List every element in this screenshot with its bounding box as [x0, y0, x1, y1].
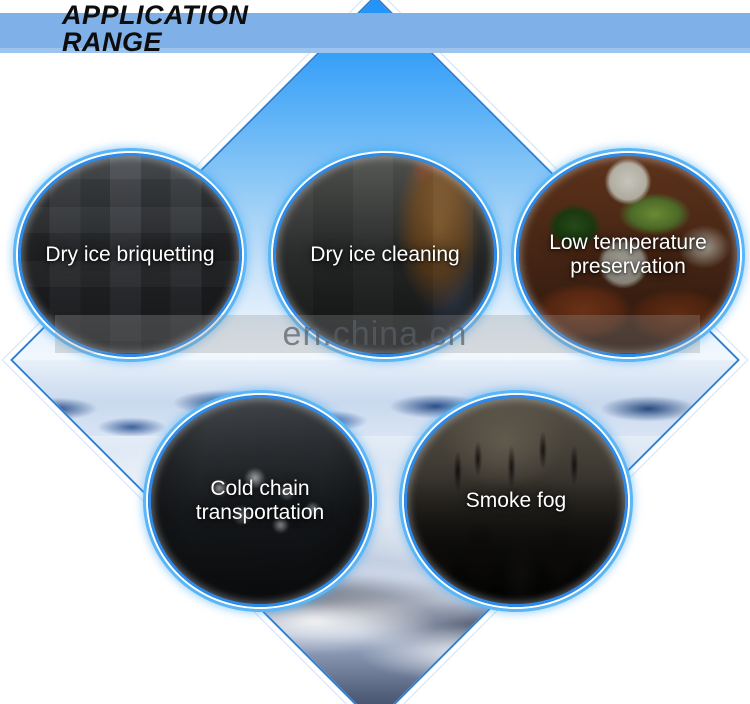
circle-smoke-fog[interactable]: Smoke fog [404, 395, 628, 607]
circle-label-dry-ice-cleaning: Dry ice cleaning [304, 243, 465, 267]
circle-label-dry-ice-briquetting: Dry ice briquetting [39, 243, 220, 267]
application-range-banner: APPLICATION RANGE Dry ice briquetting Dr… [0, 0, 750, 704]
circle-cold-chain-transportation[interactable]: Cold chain transportation [148, 395, 372, 607]
circle-label-smoke-fog: Smoke fog [460, 489, 572, 513]
page-title: APPLICATION RANGE [62, 2, 249, 56]
fog-wisps [10, 512, 740, 704]
watermark-text: en.china.cn [0, 314, 750, 354]
circle-label-low-temperature-preservation: Low temperature preservation [543, 231, 713, 279]
circle-label-cold-chain-transportation: Cold chain transportation [190, 477, 330, 525]
